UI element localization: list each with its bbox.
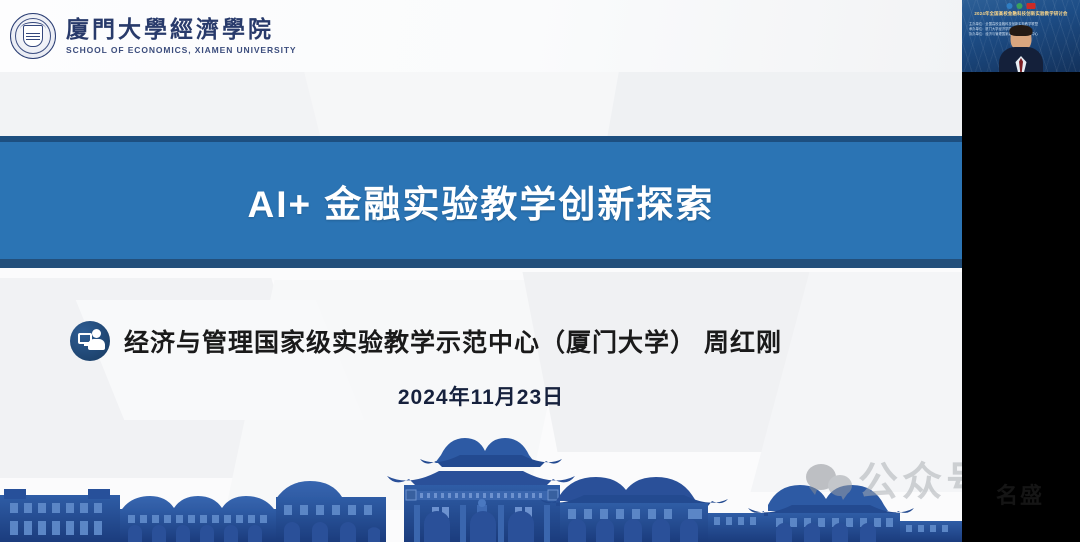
video-sidebar-panel: 2024年全国高校金融科技创新实验教学研讨会 主办单位：全国高校金融科技创新实验… bbox=[962, 0, 1080, 542]
video-banner-title: 2024年全国高校金融科技创新实验教学研讨会 bbox=[965, 11, 1077, 17]
green-dot-icon bbox=[1017, 3, 1023, 9]
screen-recording-frame: 廈門大學經濟學院 SCHOOL OF ECONOMICS, XIAMEN UNI… bbox=[0, 0, 1080, 542]
watermark-label: 公众号 bbox=[858, 462, 962, 502]
presenter-at-computer-icon bbox=[70, 321, 110, 361]
presenter-line: 经济与管理国家级实验教学示范中心（厦门大学） 周红刚 bbox=[70, 318, 930, 364]
panel-watermark-label: 名盛 bbox=[970, 476, 1070, 516]
brand-name-cn: 廈門大學經濟學院 bbox=[66, 17, 297, 43]
brand-lockup: 廈門大學經濟學院 SCHOOL OF ECONOMICS, XIAMEN UNI… bbox=[66, 17, 297, 56]
wechat-watermark: 公众号 bbox=[806, 462, 962, 502]
presentation-date: 2024年11月23日 bbox=[0, 381, 962, 411]
presenter-affiliation-and-name: 经济与管理国家级实验教学示范中心（厦门大学） 周红刚 bbox=[124, 323, 782, 359]
title-band: AI+ 金融实验教学创新探索 bbox=[0, 136, 962, 268]
page-title: AI+ 金融实验教学创新探索 bbox=[248, 174, 715, 228]
brand-name-en: SCHOOL OF ECONOMICS, XIAMEN UNIVERSITY bbox=[66, 45, 297, 55]
speaker-avatar bbox=[999, 26, 1043, 72]
slide-header: 廈門大學經濟學院 SCHOOL OF ECONOMICS, XIAMEN UNI… bbox=[0, 0, 962, 72]
presentation-slide: 廈門大學經濟學院 SCHOOL OF ECONOMICS, XIAMEN UNI… bbox=[0, 0, 962, 542]
video-status-indicators bbox=[1007, 3, 1036, 9]
presenter-video-tile[interactable]: 2024年全国高校金融科技创新实验教学研讨会 主办单位：全国高校金融科技创新实验… bbox=[962, 0, 1080, 72]
xiamen-university-seal-icon bbox=[10, 13, 56, 59]
wechat-icon bbox=[806, 464, 852, 500]
red-record-dot-icon bbox=[1027, 3, 1036, 9]
blue-dot-icon bbox=[1007, 3, 1013, 9]
